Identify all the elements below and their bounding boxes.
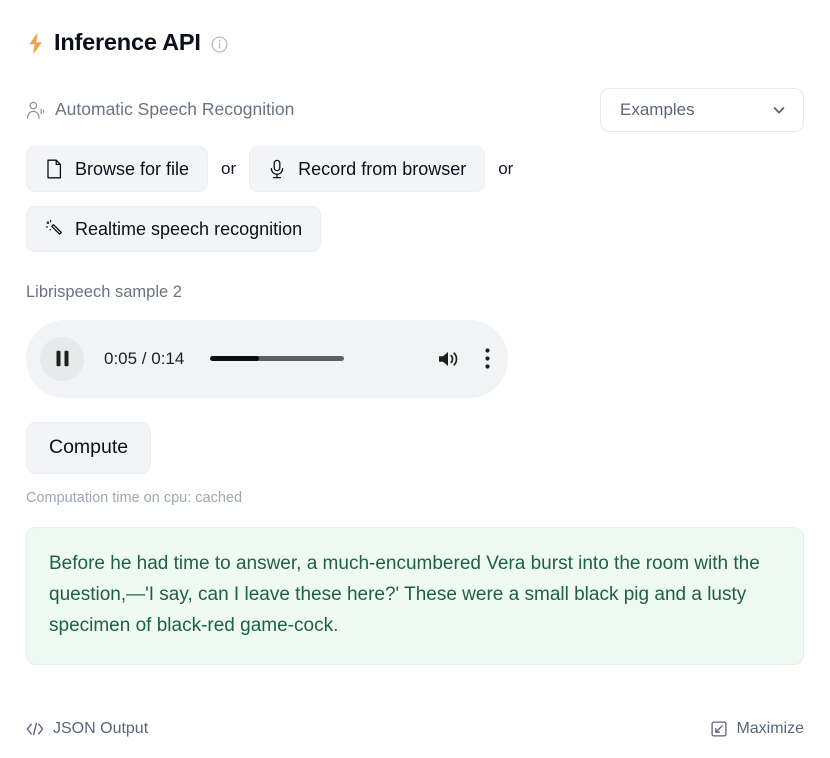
json-output-label: JSON Output xyxy=(53,721,148,737)
maximize-button[interactable]: Maximize xyxy=(711,721,804,737)
pause-button[interactable] xyxy=(40,337,84,381)
examples-dropdown-label: Examples xyxy=(620,100,695,120)
transcription-text: Before he had time to answer, a much-enc… xyxy=(49,549,781,641)
code-brackets-icon xyxy=(26,722,44,736)
sample-name-label: Librispeech sample 2 xyxy=(26,284,804,301)
audio-menu-button[interactable] xyxy=(485,348,490,369)
or-separator-2: or xyxy=(485,159,526,179)
realtime-speech-recognition-label: Realtime speech recognition xyxy=(75,220,302,238)
volume-icon xyxy=(437,349,459,369)
file-icon xyxy=(45,159,63,179)
maximize-label: Maximize xyxy=(736,721,804,737)
examples-dropdown[interactable]: Examples xyxy=(600,88,804,132)
audio-progress-track xyxy=(210,356,344,361)
audio-progress-fill xyxy=(210,356,258,361)
audio-time-display: 0:05 / 0:14 xyxy=(104,349,184,369)
widget-footer: JSON Output Maximize xyxy=(26,718,804,740)
transcription-output-box: Before he had time to answer, a much-enc… xyxy=(26,527,804,665)
info-circle-icon[interactable] xyxy=(210,33,228,53)
input-actions-row-2: Realtime speech recognition xyxy=(26,206,636,252)
maximize-icon xyxy=(711,721,727,737)
browse-for-file-button[interactable]: Browse for file xyxy=(26,146,208,192)
input-actions-row-1: Browse for file or Record from browser o… xyxy=(26,146,636,192)
task-label: Automatic Speech Recognition xyxy=(55,101,294,119)
page-title: Inference API xyxy=(54,31,201,55)
microphone-icon xyxy=(268,159,286,179)
pause-icon xyxy=(55,350,70,367)
task-row: Automatic Speech Recognition Examples xyxy=(26,88,804,132)
computation-time-status: Computation time on cpu: cached xyxy=(26,491,804,506)
json-output-button[interactable]: JSON Output xyxy=(26,721,148,737)
kebab-menu-icon xyxy=(485,348,490,369)
compute-button[interactable]: Compute xyxy=(26,422,151,474)
or-separator-1: or xyxy=(208,159,249,179)
record-from-browser-label: Record from browser xyxy=(298,160,466,178)
inference-api-widget: Inference API Automatic Speech Recogniti… xyxy=(0,0,830,758)
widget-header: Inference API xyxy=(26,0,804,60)
audio-player: 0:05 / 0:14 xyxy=(26,320,508,398)
user-speech-icon xyxy=(26,101,45,120)
realtime-speech-recognition-button[interactable]: Realtime speech recognition xyxy=(26,206,321,252)
volume-button[interactable] xyxy=(437,349,459,369)
record-from-browser-button[interactable]: Record from browser xyxy=(249,146,485,192)
lightning-bolt-icon xyxy=(26,32,45,55)
browse-for-file-label: Browse for file xyxy=(75,160,189,178)
magic-wand-icon xyxy=(45,219,63,239)
task-type: Automatic Speech Recognition xyxy=(26,101,294,120)
audio-progress-bar[interactable] xyxy=(210,356,419,361)
chevron-down-icon xyxy=(771,102,787,118)
